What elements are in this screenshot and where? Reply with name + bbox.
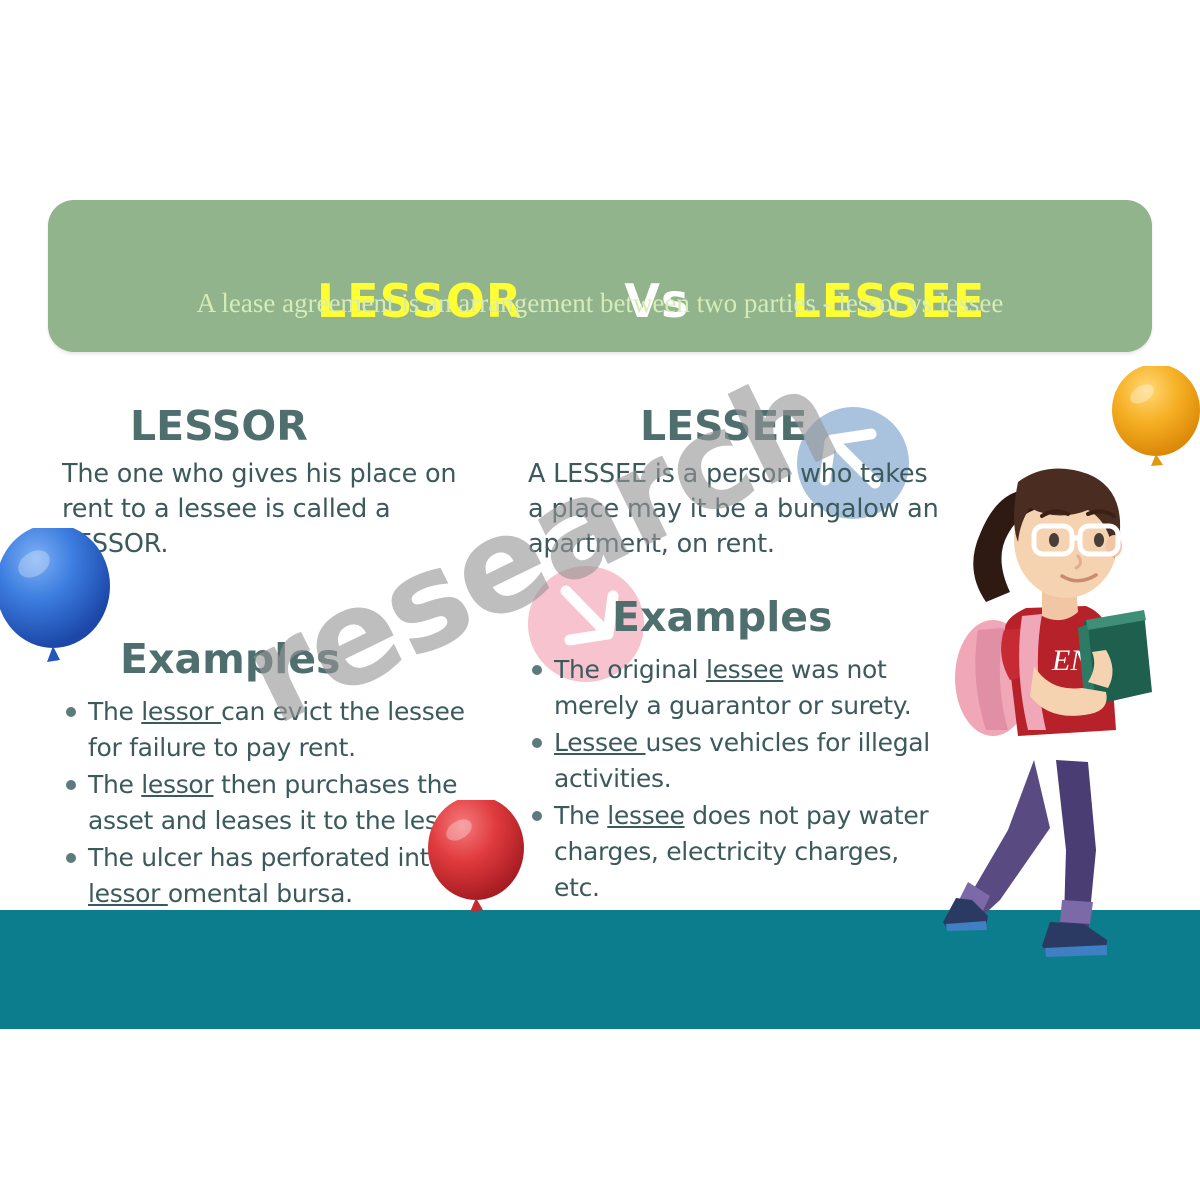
lessee-heading: LESSEE (528, 406, 948, 447)
lessee-examples-list: The original lessee was not merely a gua… (528, 652, 948, 906)
balloon-blue-icon (0, 528, 118, 683)
lessee-examples-heading: Examples (528, 597, 948, 638)
list-item: The original lessee was not merely a gua… (528, 652, 948, 724)
lessee-description: A LESSEE is a person who takes a place m… (528, 457, 948, 563)
list-item: The lessor can evict the lessee for fail… (62, 694, 502, 766)
list-item: Lessee uses vehicles for illegal activit… (528, 725, 948, 797)
list-item: The lessee does not pay water charges, e… (528, 798, 948, 906)
lessor-heading: LESSOR (62, 406, 502, 447)
lessee-column: LESSEE A LESSEE is a person who takes a … (528, 406, 948, 907)
lessor-description: The one who gives his place on rent to a… (62, 457, 502, 563)
student-character-illustration: EN (938, 430, 1188, 980)
balloon-red-icon (424, 800, 536, 925)
poster-canvas: LESSOR Vs LESSEE A lease agreement is an… (0, 0, 1200, 1200)
header-banner: LESSOR Vs LESSEE A lease agreement is an… (48, 200, 1152, 352)
header-subtitle: A lease agreement is an arrangement betw… (48, 288, 1152, 319)
lessor-examples-heading: Examples (62, 639, 502, 680)
